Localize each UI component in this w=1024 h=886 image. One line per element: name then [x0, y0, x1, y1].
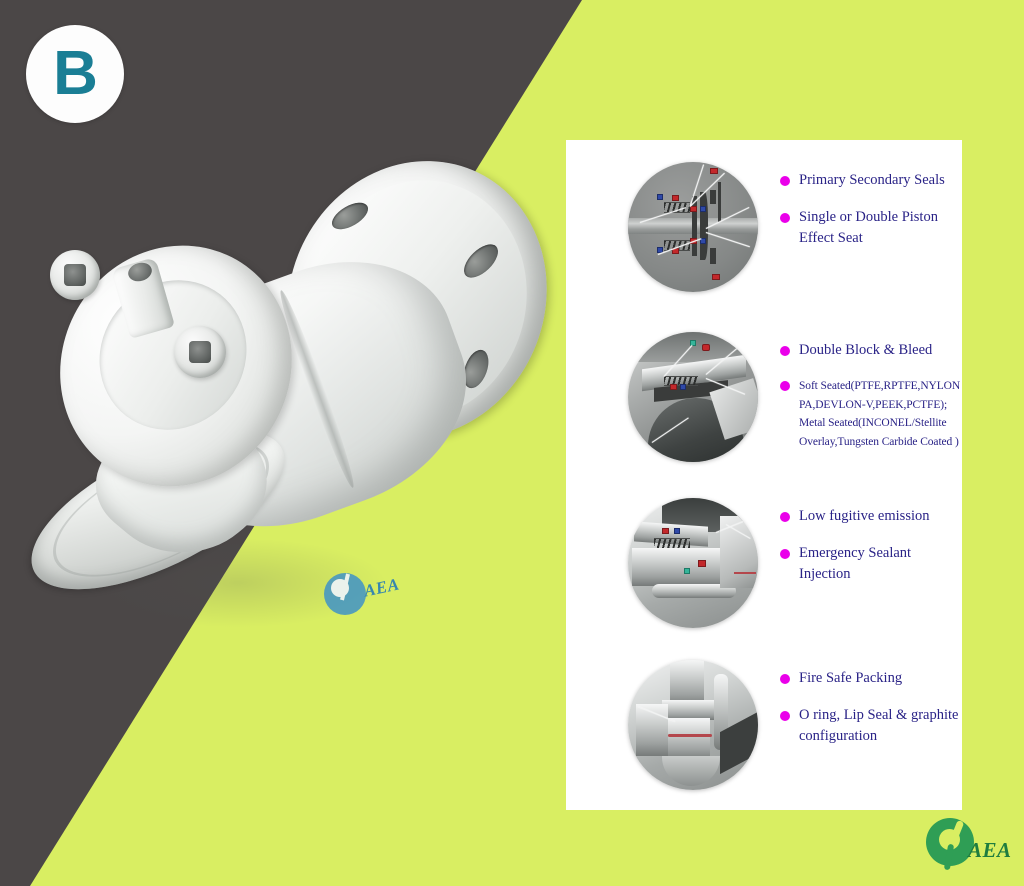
feature-bullet-list: Primary Secondary Seals Single or Double… — [758, 156, 962, 265]
callout-tag — [657, 194, 663, 200]
nut-socket — [189, 341, 212, 364]
packing-chamber — [668, 718, 710, 760]
features-panel: Primary Secondary Seals Single or Double… — [566, 140, 962, 810]
seat-spring — [664, 202, 690, 213]
callout-tag — [702, 344, 710, 351]
callout-tag — [712, 274, 720, 280]
fire-safe-stem-packing-cutaway[interactable] — [628, 660, 758, 790]
aea-logo-text: AEA — [968, 838, 1012, 863]
aea-corner-logo: AEA — [926, 816, 1008, 872]
sealant-line — [734, 572, 756, 574]
callout-tag — [672, 195, 679, 201]
feature-group: Double Block & Bleed Soft Seated(PTFE,RP… — [566, 326, 962, 474]
bullet-dot-icon — [780, 381, 790, 391]
nut-socket — [64, 264, 86, 286]
body-block — [632, 548, 728, 586]
feature-bullet: O ring, Lip Seal & graphite configuratio… — [780, 705, 962, 747]
feature-bullet-list: Double Block & Bleed Soft Seated(PTFE,RP… — [758, 326, 962, 468]
callout-tag — [674, 528, 680, 534]
bullet-dot-icon — [780, 346, 790, 356]
feature-bullet-list: Fire Safe Packing O ring, Lip Seal & gra… — [758, 654, 962, 763]
stem-base — [662, 756, 720, 786]
feature-group: Primary Secondary Seals Single or Double… — [566, 156, 962, 304]
feature-bullet: Soft Seated(PTFE,RPTFE,NYLON PA,DEVLON-V… — [780, 377, 962, 452]
feature-bullet: Fire Safe Packing — [780, 668, 962, 689]
bullet-dot-icon — [780, 711, 790, 721]
bullet-dot-icon — [780, 512, 790, 522]
feature-bullet: Primary Secondary Seals — [780, 170, 962, 191]
slide-badge: B — [26, 25, 124, 123]
seat-retainer — [710, 190, 716, 204]
feature-group: Fire Safe Packing O ring, Lip Seal & gra… — [566, 654, 962, 804]
callout-tag — [698, 560, 706, 567]
ball-face — [692, 196, 697, 256]
gland-flange — [662, 700, 714, 720]
product-valve-image: AEA — [18, 158, 558, 678]
bullet-dot-icon — [780, 674, 790, 684]
valve-bonnet-nut — [50, 250, 100, 300]
leader-line — [706, 232, 750, 247]
ball-curve — [700, 192, 708, 260]
graphite-ring — [668, 734, 712, 737]
feature-bullet: Low fugitive emission — [780, 506, 962, 527]
feature-bullet: Single or Double Piston Effect Seat — [780, 207, 962, 249]
callout-tag — [700, 206, 706, 212]
feature-bullet: Double Block & Bleed — [780, 340, 962, 361]
valve-bonnet-nut — [174, 326, 226, 378]
feature-bullet-text: Fire Safe Packing — [799, 668, 902, 689]
valve-seat-cross-section-diagram[interactable] — [628, 162, 758, 292]
feature-bullet-text: Single or Double Piston Effect Seat — [799, 207, 962, 249]
feature-bullet-text: O ring, Lip Seal & graphite configuratio… — [799, 705, 962, 747]
callout-tag — [680, 384, 686, 390]
feature-bullet-text: Soft Seated(PTFE,RPTFE,NYLON PA,DEVLON-V… — [799, 377, 962, 452]
feature-bullet-text: Low fugitive emission — [799, 506, 930, 527]
feature-bullet-text: Primary Secondary Seals — [799, 170, 945, 191]
feature-bullet-text: Emergency Sealant Injection — [799, 543, 962, 585]
slide-canvas: B AEA — [0, 0, 1024, 886]
callout-tag — [690, 206, 697, 212]
valve-watermark-logo: AEA — [318, 566, 410, 628]
bullet-dot-icon — [780, 549, 790, 559]
bullet-dot-icon — [780, 176, 790, 186]
feature-bullet: Emergency Sealant Injection — [780, 543, 962, 585]
double-block-and-bleed-cutaway[interactable] — [628, 332, 758, 462]
feature-bullet-text: Double Block & Bleed — [799, 340, 932, 361]
bullet-dot-icon — [780, 213, 790, 223]
feature-group: Low fugitive emission Emergency Sealant … — [566, 492, 962, 642]
callout-tag — [684, 568, 690, 574]
callout-tag — [662, 528, 669, 534]
callout-tag — [670, 384, 677, 390]
sealant-injection-cutaway[interactable] — [628, 498, 758, 628]
slide-badge-letter: B — [53, 43, 97, 105]
feature-bullet-list: Low fugitive emission Emergency Sealant … — [758, 492, 962, 601]
callout-tag — [710, 168, 718, 174]
body-wall — [718, 182, 721, 222]
seat-retainer — [710, 248, 716, 264]
